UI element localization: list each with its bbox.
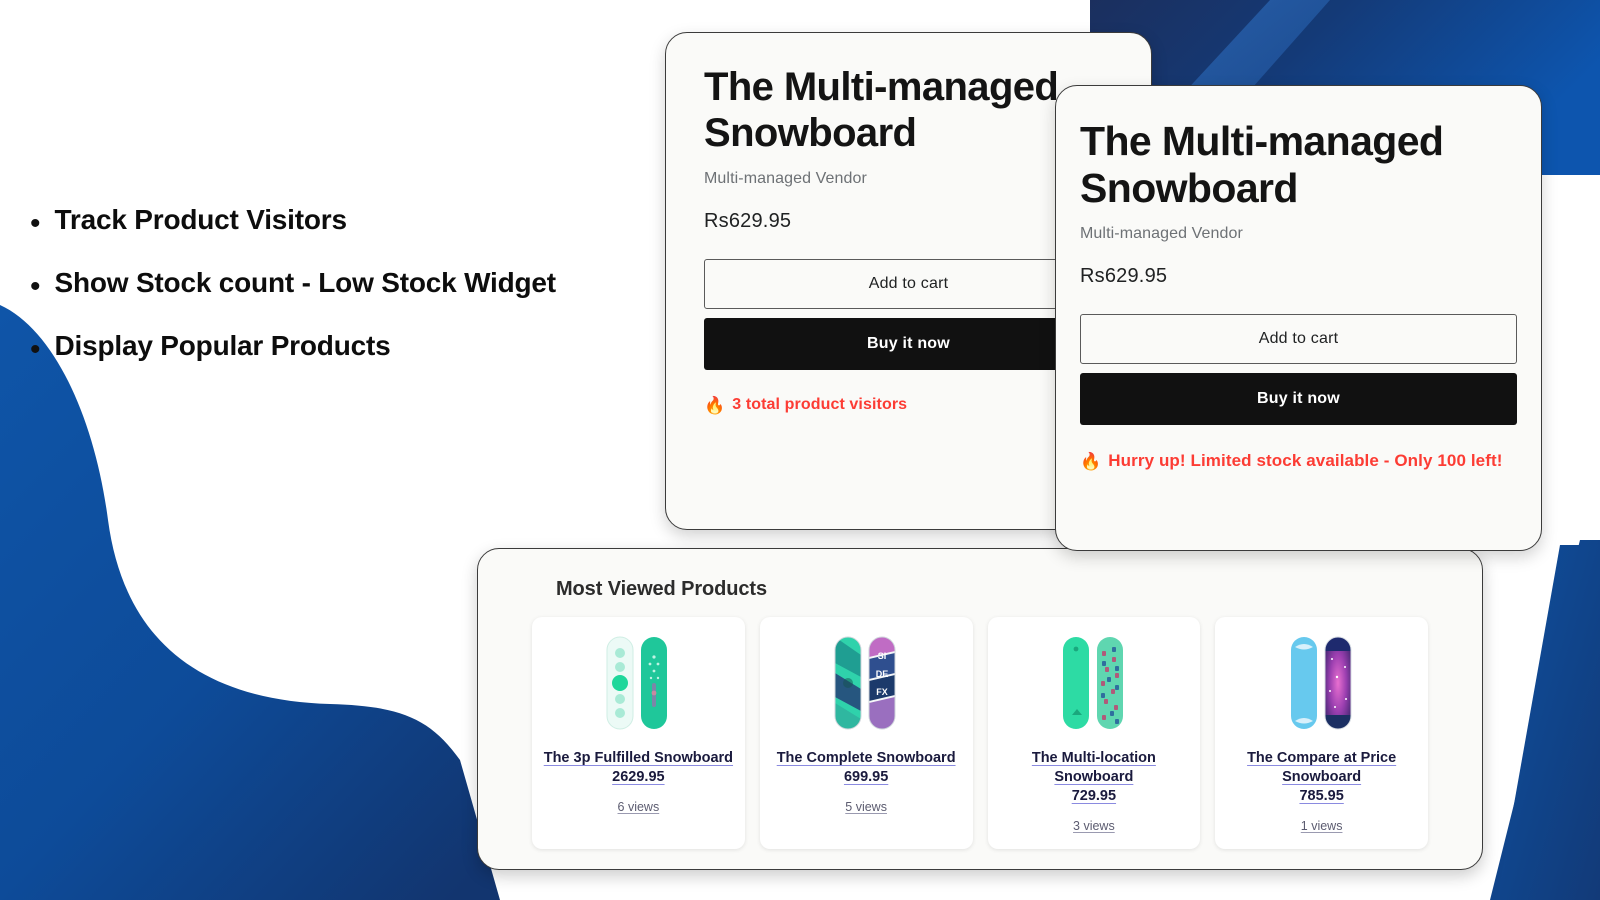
list-item[interactable]: The 3p Fulfilled Snowboard 2629.95 6 vie… (532, 617, 745, 849)
snowboard-pair-blue-galaxy-icon (1223, 631, 1420, 735)
add-to-cart-button[interactable]: Add to cart (1080, 314, 1517, 364)
product-price-link[interactable]: 729.95 (1072, 787, 1116, 806)
fire-icon: 🔥 (704, 397, 725, 414)
low-stock-text: Hurry up! Limited stock available - Only… (1108, 451, 1502, 471)
list-item[interactable]: The Compare at Price Snowboard 785.95 1 … (1215, 617, 1428, 849)
bottom-left-blue-shape (0, 305, 500, 900)
product-visitors-badge: 🔥 3 total product visitors (704, 396, 1113, 414)
most-viewed-tiles: The 3p Fulfilled Snowboard 2629.95 6 vie… (502, 617, 1458, 849)
buy-it-now-button[interactable]: Buy it now (704, 318, 1113, 370)
product-name-link[interactable]: The 3p Fulfilled Snowboard (544, 749, 733, 768)
list-item[interactable]: The Multi-location Snowboard 729.95 3 vi… (988, 617, 1201, 849)
bullet-icon: • (30, 335, 41, 365)
product-vendor: Multi-managed Vendor (704, 170, 1113, 188)
feature-label: Show Stock count - Low Stock Widget (55, 268, 556, 299)
svg-text:FX: FX (876, 687, 888, 697)
product-title: The Multi-managed Snowboard (1080, 118, 1517, 211)
feature-label: Track Product Visitors (55, 205, 347, 236)
bullet-icon: • (30, 209, 41, 239)
feature-list: • Track Product Visitors • Show Stock co… (30, 205, 730, 394)
product-views-count[interactable]: 6 views (618, 800, 660, 814)
product-price: Rs629.95 (1080, 265, 1517, 288)
product-card-low-stock: The Multi-managed Snowboard Multi-manage… (1055, 85, 1542, 551)
snowboard-pair-green-confetti-icon (996, 631, 1193, 735)
feature-label: Display Popular Products (55, 331, 391, 362)
feature-item-track-visitors: • Track Product Visitors (30, 205, 730, 239)
most-viewed-heading: Most Viewed Products (556, 578, 1458, 601)
product-price: Rs629.95 (704, 210, 1113, 233)
svg-text:SI: SI (878, 651, 887, 661)
product-name-link[interactable]: The Compare at Price Snowboard (1223, 749, 1420, 787)
product-views-count[interactable]: 3 views (1073, 819, 1115, 833)
list-item[interactable]: SI DE FX The Complete Snowboard 699.95 5… (760, 617, 973, 849)
right-edge-blue-wedge-2 (1497, 545, 1600, 900)
feature-item-stock-count: • Show Stock count - Low Stock Widget (30, 268, 730, 302)
product-visitors-text: 3 total product visitors (732, 396, 907, 414)
product-price-link[interactable]: 2629.95 (612, 768, 664, 787)
buy-it-now-button[interactable]: Buy it now (1080, 373, 1517, 425)
product-title: The Multi-managed Snowboard (704, 65, 1113, 156)
product-price-link[interactable]: 785.95 (1299, 787, 1343, 806)
product-views-count[interactable]: 1 views (1301, 819, 1343, 833)
product-views-count[interactable]: 5 views (845, 800, 887, 814)
low-stock-badge: 🔥 Hurry up! Limited stock available - On… (1080, 451, 1517, 471)
product-vendor: Multi-managed Vendor (1080, 225, 1517, 243)
product-name-link[interactable]: The Multi-location Snowboard (996, 749, 1193, 787)
most-viewed-products-panel: Most Viewed Products The 3p Fulfilled (477, 548, 1483, 870)
svg-text:DE: DE (876, 669, 889, 679)
product-name-link[interactable]: The Complete Snowboard (777, 749, 956, 768)
product-price-link[interactable]: 699.95 (844, 768, 888, 787)
snowboard-pair-mint-diamond-icon (540, 631, 737, 735)
fire-icon: 🔥 (1080, 453, 1101, 470)
feature-item-popular-products: • Display Popular Products (30, 331, 730, 365)
add-to-cart-button[interactable]: Add to cart (704, 259, 1113, 309)
snowboard-pair-teal-camo-icon: SI DE FX (768, 631, 965, 735)
bullet-icon: • (30, 272, 41, 302)
